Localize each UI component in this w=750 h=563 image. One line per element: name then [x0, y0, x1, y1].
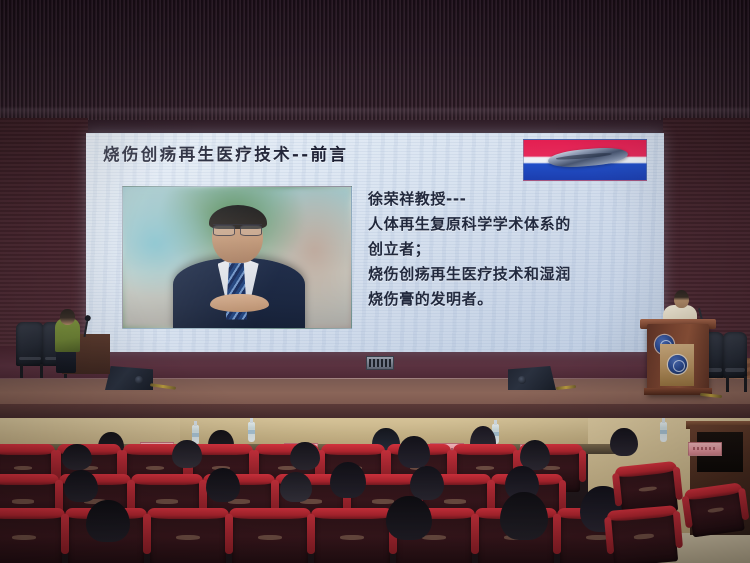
wall-control-panel [366, 356, 394, 370]
portrait-glasses-icon [213, 224, 262, 233]
presenter-head [674, 290, 689, 308]
seat-armrest [579, 450, 586, 482]
audience-person [64, 470, 98, 502]
audience-person [610, 428, 638, 456]
audience-person [86, 500, 130, 542]
audience-person [330, 462, 366, 498]
speaker-cone-icon [518, 376, 526, 384]
theater-seat[interactable] [232, 512, 308, 563]
theater-seat[interactable] [314, 512, 390, 563]
slide-body-line: 创立者； [368, 237, 650, 262]
seat-armrest [62, 514, 69, 554]
operator-head [60, 309, 75, 325]
emblem-swoosh-icon [547, 146, 628, 170]
operator-legs [56, 349, 76, 373]
stage-monitor-right [508, 366, 556, 390]
auditorium-scene: 烧伤创疡再生医疗技术--前言 徐荣祥教授--- 人体再生复原科学学术体系的 创立… [0, 0, 750, 563]
audience-person [280, 472, 312, 502]
speaker-cone-icon [135, 376, 143, 384]
theater-seat[interactable] [687, 487, 745, 538]
slide-body-line: 烧伤膏的发明者。 [368, 287, 650, 312]
slide-body-line: 人体再生复原科学学术体系的 [368, 212, 650, 237]
audience-person [386, 496, 432, 540]
audience-person [172, 440, 202, 468]
stage-curtain [0, 0, 750, 122]
theater-seat[interactable] [150, 512, 226, 563]
seat-armrest [472, 514, 479, 554]
audience-person [206, 468, 240, 502]
audience-person [62, 444, 92, 470]
water-bottle [248, 422, 255, 442]
slide-body-text: 徐荣祥教授--- 人体再生复原科学学术体系的 创立者； 烧伤创疡再生医疗技术和湿… [368, 187, 650, 312]
chair-leg [744, 376, 747, 392]
portrait-hands [210, 294, 269, 312]
seat-armrest [308, 514, 315, 554]
curtain-hem [0, 108, 750, 116]
slide-title: 烧伤创疡再生医疗技术--前言 [103, 141, 348, 165]
audience-person [398, 436, 430, 468]
podium-front-panel [660, 344, 694, 386]
water-bottle [660, 422, 667, 442]
slide-body-line: 徐荣祥教授--- [368, 187, 650, 212]
stage-chair [723, 332, 747, 378]
slide-portrait-photo [122, 186, 352, 329]
seat-armrest [144, 514, 151, 554]
stage-chair [16, 322, 44, 366]
theater-seat[interactable] [0, 512, 62, 563]
seat-armrest [226, 514, 233, 554]
seat-armrest [554, 514, 561, 554]
stage-monitor-left [105, 366, 153, 390]
audience-person [500, 492, 548, 540]
theater-seat[interactable] [610, 509, 678, 563]
slide-logo-emblem [523, 139, 647, 181]
chair-leg [20, 364, 23, 378]
name-placard [688, 442, 722, 456]
chair-leg [726, 376, 729, 392]
chair-leg [40, 364, 43, 378]
slide-body-line: 烧伤创疡再生医疗技术和湿润 [368, 262, 650, 287]
podium-seal-icon [668, 355, 687, 374]
audience-person [290, 442, 320, 470]
projection-screen: 烧伤创疡再生医疗技术--前言 徐荣祥教授--- 人体再生复原科学学术体系的 创立… [86, 133, 664, 352]
audience-person [410, 466, 444, 500]
